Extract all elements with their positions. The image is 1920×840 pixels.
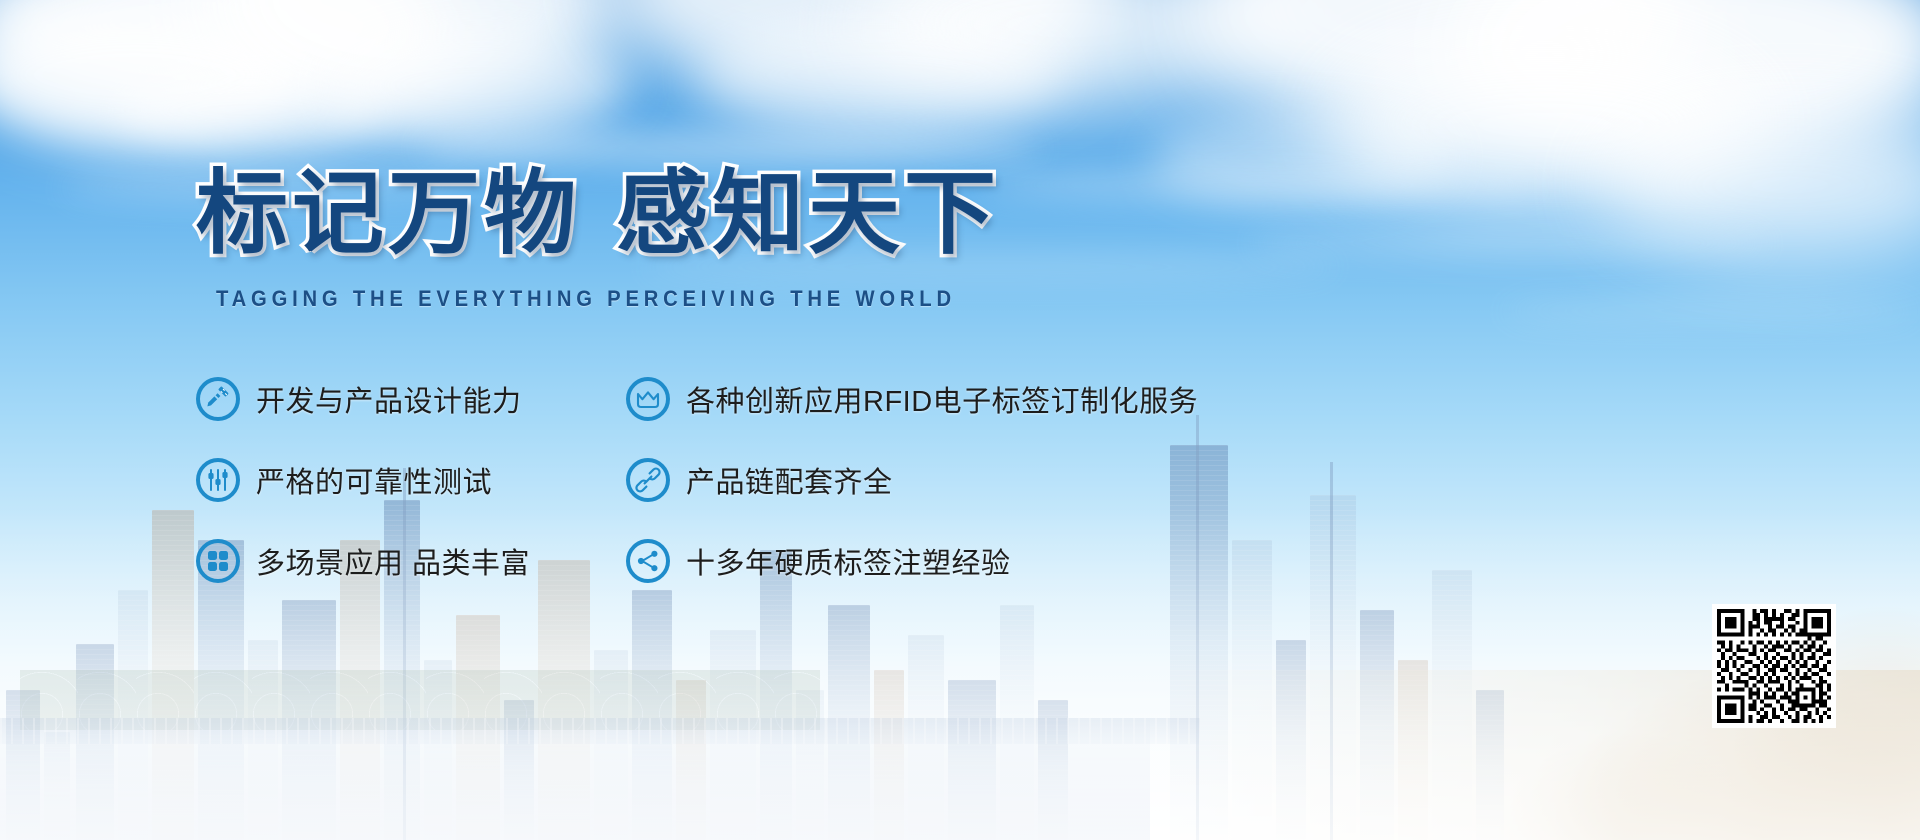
feature-label: 开发与产品设计能力 <box>256 378 522 420</box>
feature-item-rfid-service: 各种创新应用RFID电子标签订制化服务 <box>626 360 1376 438</box>
feature-item-design: 开发与产品设计能力 <box>196 360 626 438</box>
feature-item-supply-chain: 产品链配套齐全 <box>626 441 1376 519</box>
feature-item-scenarios: 多场景应用 品类丰富 <box>196 522 626 600</box>
banner-content: 标记万物 感知天下 TAGGING THE EVERYTHING PERCEIV… <box>0 0 1920 840</box>
feature-column-right: 各种创新应用RFID电子标签订制化服务 产品链配套齐全 <box>626 360 1376 603</box>
crown-icon <box>626 377 670 421</box>
link-chain-icon <box>626 458 670 502</box>
qr-code-image <box>1717 609 1831 723</box>
qr-code[interactable] <box>1712 604 1836 728</box>
grid-squares-icon <box>196 539 240 583</box>
headline: 标记万物 感知天下 <box>196 168 1000 260</box>
ruler-pencil-icon <box>196 377 240 421</box>
feature-column-left: 开发与产品设计能力 <box>196 360 626 603</box>
share-nodes-icon <box>626 539 670 583</box>
tagline: TAGGING THE EVERYTHING PERCEIVING THE WO… <box>216 286 956 312</box>
feature-label: 产品链配套齐全 <box>686 459 893 501</box>
feature-label: 严格的可靠性测试 <box>256 459 492 501</box>
feature-label: 多场景应用 品类丰富 <box>256 540 530 582</box>
feature-item-reliability: 严格的可靠性测试 <box>196 441 626 519</box>
feature-item-experience: 十多年硬质标签注塑经验 <box>626 522 1376 600</box>
feature-label: 各种创新应用RFID电子标签订制化服务 <box>686 378 1198 420</box>
feature-label: 十多年硬质标签注塑经验 <box>686 540 1011 582</box>
sliders-icon <box>196 458 240 502</box>
promo-banner: 标记万物 感知天下 TAGGING THE EVERYTHING PERCEIV… <box>0 0 1920 840</box>
